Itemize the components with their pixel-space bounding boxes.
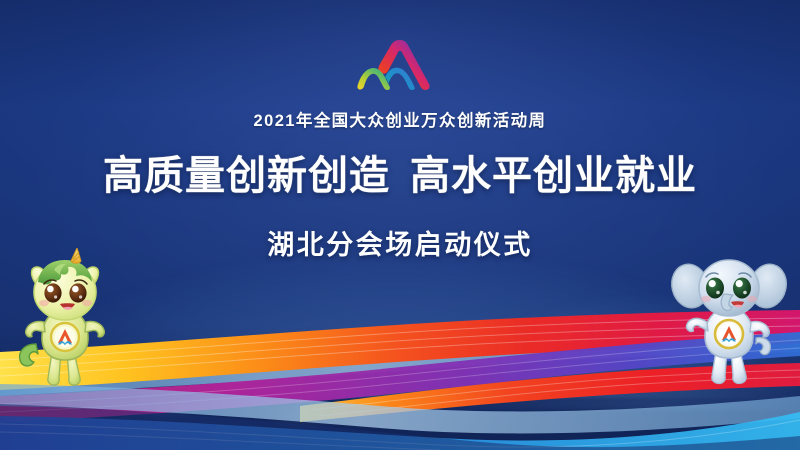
shuangchuang-logo-icon	[354, 34, 446, 100]
elephant-mascot	[668, 246, 790, 386]
event-title: 2021年全国大众创业万众创新活动周	[254, 107, 547, 131]
main-title-part2: 高水平创业就业	[410, 154, 697, 198]
unicorn-mascot	[8, 248, 126, 388]
main-title-part1: 高质量创新创造	[103, 154, 390, 198]
sub-title: 湖北分会场启动仪式	[267, 223, 533, 262]
main-title: 高质量创新创造高水平创业就业	[103, 143, 697, 201]
poster-canvas: 2021年全国大众创业万众创新活动周 高质量创新创造高水平创业就业 湖北分会场启…	[0, 0, 800, 450]
